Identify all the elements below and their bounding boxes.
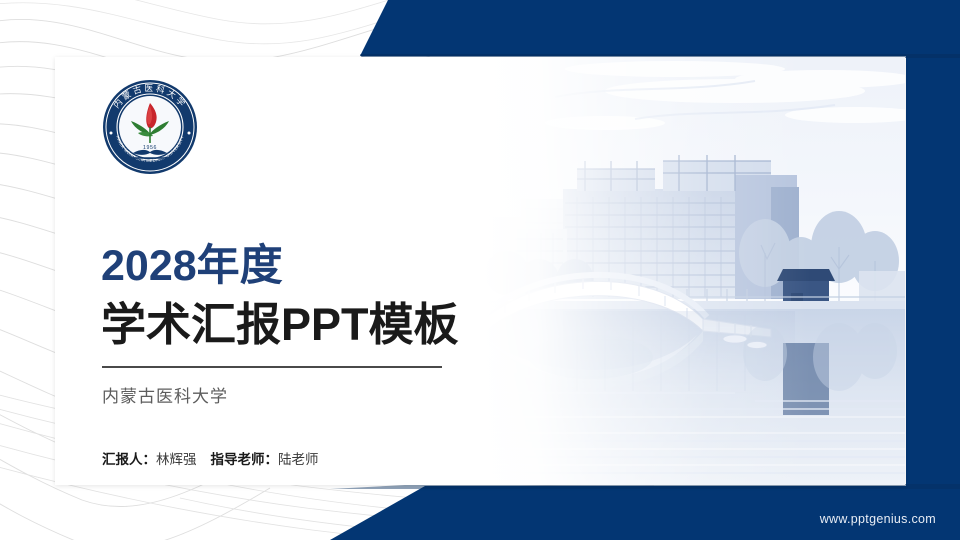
advisor-label: 指导老师： — [211, 452, 279, 467]
presenter-name: 林辉强 — [156, 452, 197, 467]
presenter-label: 汇报人： — [102, 452, 156, 467]
title-block: 内蒙古医科大学 INNER MONGOLIA MEDICAL UNIVERSIT… — [100, 57, 520, 485]
university-logo: 内蒙古医科大学 INNER MONGOLIA MEDICAL UNIVERSIT… — [100, 77, 200, 177]
presenter-info: 汇报人：林辉强指导老师：陆老师 — [102, 448, 319, 468]
presentation-slide: 内蒙古医科大学 INNER MONGOLIA MEDICAL UNIVERSIT… — [0, 0, 960, 540]
title-main: 学术汇报PPT模板 — [101, 302, 459, 347]
site-watermark: www.pptgenius.com — [820, 512, 936, 526]
university-name: 内蒙古医科大学 — [102, 382, 228, 407]
advisor-name: 陆老师 — [278, 452, 319, 467]
title-year: 2028年度 — [101, 245, 283, 288]
content-card: 内蒙古医科大学 INNER MONGOLIA MEDICAL UNIVERSIT… — [55, 57, 905, 485]
title-divider — [102, 366, 442, 368]
